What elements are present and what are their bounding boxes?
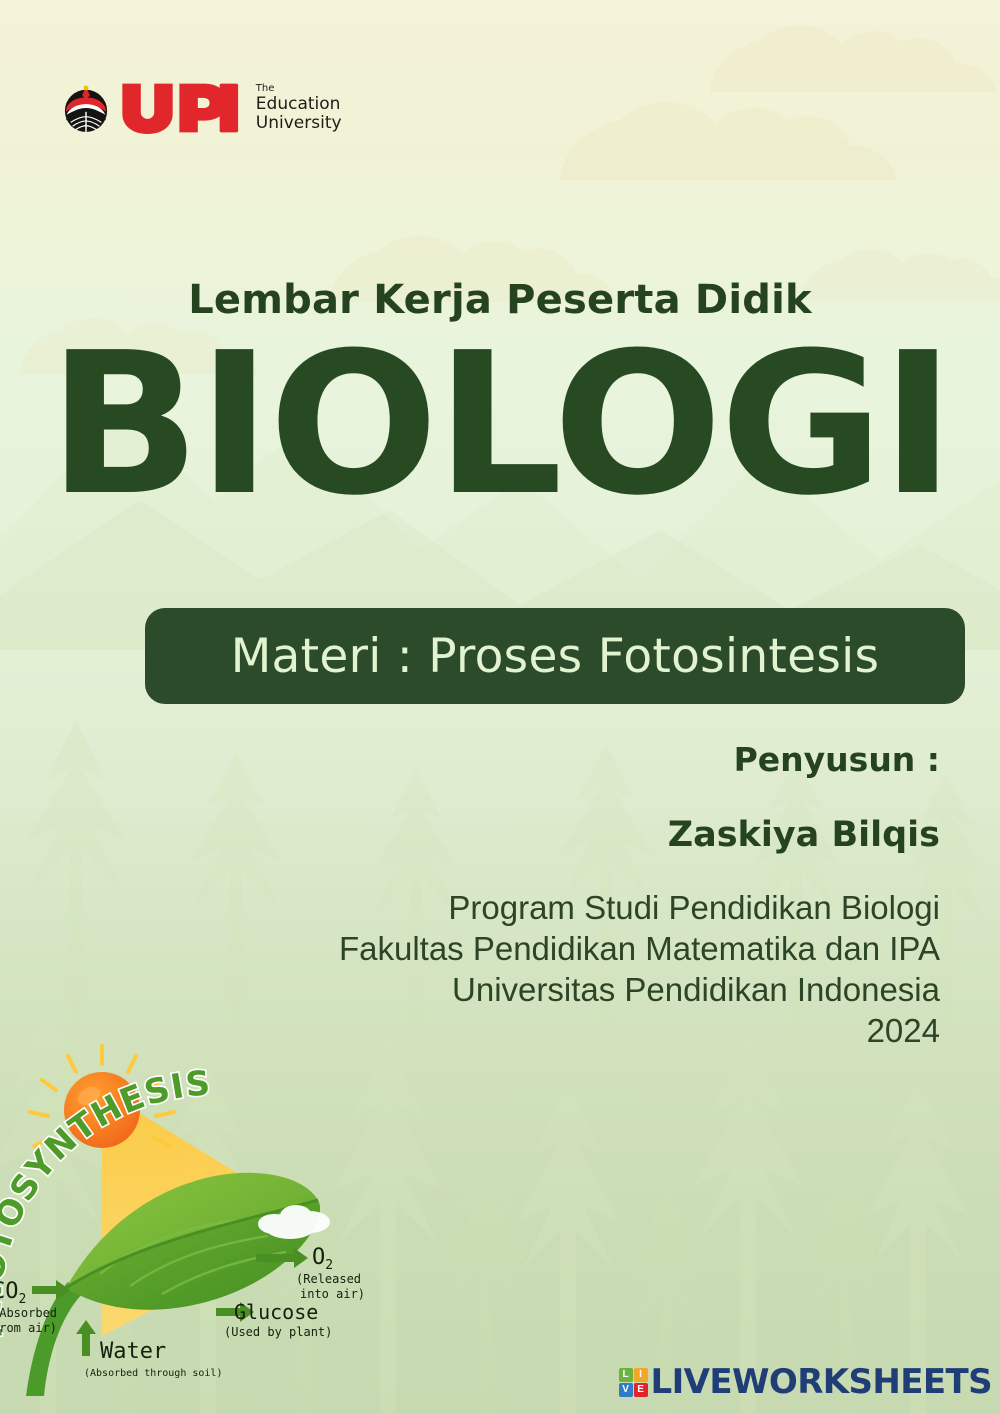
co2-label: CO2 (0, 1279, 26, 1307)
affiliation-line-3: Universitas Pendidikan Indonesia (180, 970, 940, 1011)
photosynthesis-diagram: PHOTOSYNTHESIS CO2 (A (0, 1036, 380, 1396)
upi-tagline-line2: Education (256, 95, 342, 114)
water-label: Water (100, 1339, 166, 1364)
upi-tagline-line3: University (256, 114, 342, 133)
affiliation-line-2: Fakultas Pendidikan Matematika dan IPA (180, 929, 940, 970)
o2-note-line1: (Released (296, 1272, 361, 1286)
tile-l: L (619, 1368, 633, 1382)
affiliation-block: Program Studi Pendidikan Biologi Fakulta… (180, 888, 940, 1052)
water-note: (Absorbed through soil) (84, 1368, 222, 1379)
o2-note-line2: into air) (300, 1287, 365, 1301)
upi-tagline-line1: The (256, 83, 342, 94)
affiliation-line-1: Program Studi Pendidikan Biologi (180, 888, 940, 929)
materi-banner: Materi : Proses Fotosintesis (145, 608, 965, 704)
upi-crest-icon (62, 83, 110, 133)
liveworksheets-brand: LIVEWORKSHEETS (651, 1362, 992, 1402)
author-name: Zaskiya Bilqis (668, 815, 940, 855)
tile-i: I (634, 1368, 648, 1382)
liveworksheets-logo: L I V E LIVEWORKSHEETS (619, 1362, 992, 1402)
upi-wordmark-icon (119, 82, 245, 134)
page-title: BIOLOGI (0, 327, 1000, 523)
upi-tagline: The Education University (256, 83, 342, 132)
penyusun-label: Penyusun : (734, 740, 940, 779)
materi-banner-label: Materi : Proses Fotosintesis (231, 629, 880, 684)
co2-note-line1: (Absorbed (0, 1306, 57, 1320)
o2-label: O2 (312, 1245, 333, 1273)
co2-note-line2: from air) (0, 1321, 57, 1335)
tile-v: V (619, 1383, 633, 1397)
glucose-label: Glucose (234, 1300, 318, 1324)
upi-logo: The Education University (62, 82, 342, 134)
tile-e: E (634, 1383, 648, 1397)
glucose-note: (Used by plant) (224, 1325, 332, 1339)
liveworksheets-tiles: L I V E (619, 1368, 648, 1397)
worksheet-cover-page: The Education University Lembar Kerja Pe… (0, 0, 1000, 1414)
water-arrow-icon (76, 1320, 96, 1356)
